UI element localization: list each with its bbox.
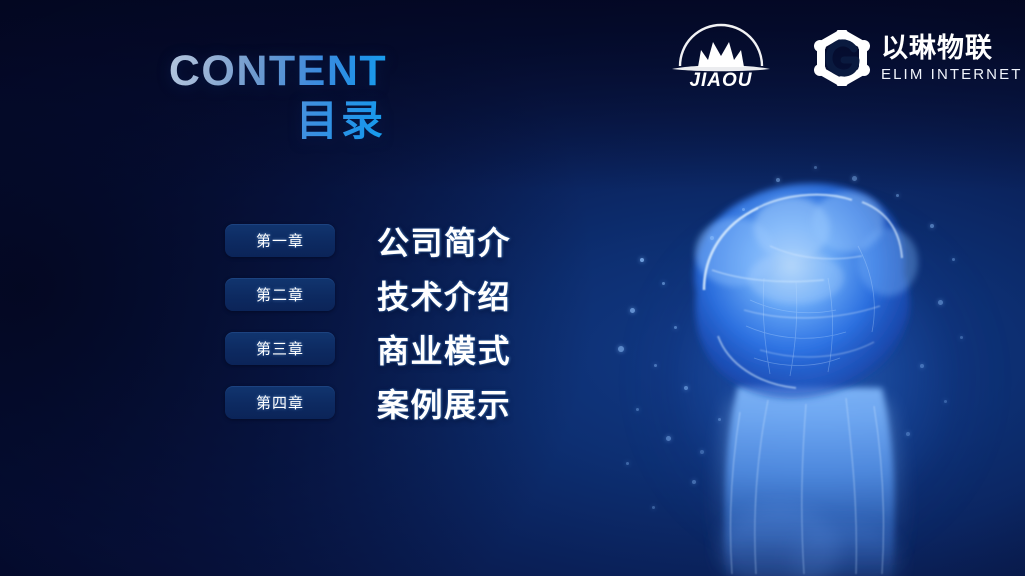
chapter-badge-label: 第一章 bbox=[256, 230, 304, 251]
chapter-badge-4[interactable]: 第四章 bbox=[225, 386, 335, 419]
chapter-badge-label: 第三章 bbox=[256, 338, 304, 359]
elim-english-name: ELIM INTERNET bbox=[881, 67, 1022, 82]
presentation-slide: CONTENT 目录 JIAOU 以琳物联 bbox=[0, 0, 1025, 576]
title-chinese: 目录 bbox=[168, 99, 388, 143]
chapter-list: 第一章 公司简介 第二章 技术介绍 第三章 商业模式 第四章 案例展示 bbox=[225, 224, 511, 440]
logo-row: JIAOU 以琳物联 ELIM INTERNET bbox=[668, 22, 1022, 94]
chapter-badge-label: 第四章 bbox=[256, 392, 304, 413]
elim-chinese-name: 以琳物联 bbox=[881, 35, 1022, 62]
elim-hexagon-node-g-icon bbox=[814, 30, 870, 86]
chapter-title-4[interactable]: 案例展示 bbox=[377, 380, 511, 426]
chapter-title-3[interactable]: 商业模式 bbox=[377, 326, 511, 372]
chapter-badge-label: 第二章 bbox=[256, 284, 304, 305]
chapter-row[interactable]: 第一章 公司简介 bbox=[225, 224, 511, 257]
chapter-title-1[interactable]: 公司简介 bbox=[377, 218, 511, 264]
jiaou-wordmark: JIAOU bbox=[668, 70, 774, 92]
chapter-row[interactable]: 第二章 技术介绍 bbox=[225, 278, 511, 311]
jiaou-logo: JIAOU bbox=[668, 22, 774, 94]
elim-text-block: 以琳物联 ELIM INTERNET bbox=[881, 35, 1022, 82]
elim-logo: 以琳物联 ELIM INTERNET bbox=[814, 30, 1022, 86]
chapter-row[interactable]: 第四章 案例展示 bbox=[225, 386, 511, 419]
chapter-row[interactable]: 第三章 商业模式 bbox=[225, 332, 511, 365]
chapter-title-2[interactable]: 技术介绍 bbox=[377, 272, 511, 318]
page-title: CONTENT 目录 bbox=[168, 50, 388, 143]
title-english: CONTENT bbox=[168, 50, 388, 93]
chapter-badge-1[interactable]: 第一章 bbox=[225, 224, 335, 257]
chapter-badge-2[interactable]: 第二章 bbox=[225, 278, 335, 311]
chapter-badge-3[interactable]: 第三章 bbox=[225, 332, 335, 365]
